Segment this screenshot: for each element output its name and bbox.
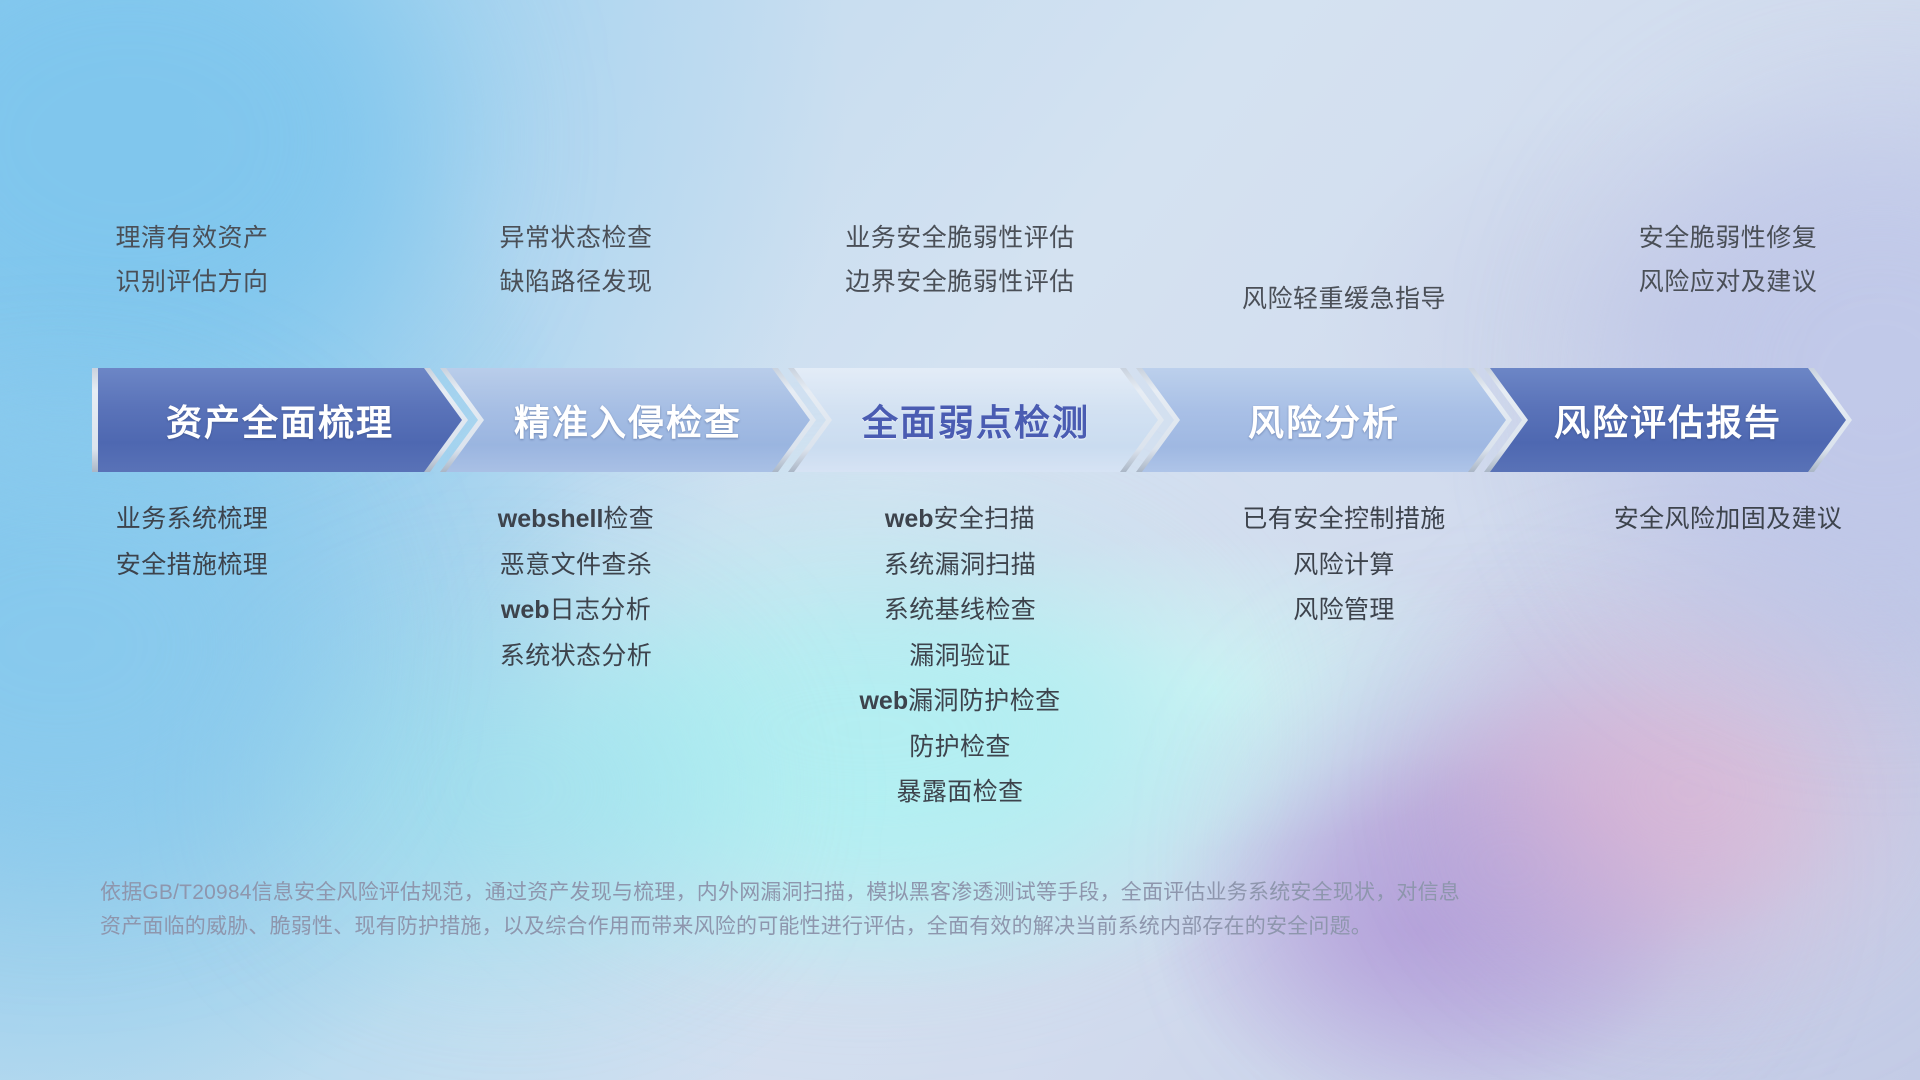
top-item: 业务安全脆弱性评估 xyxy=(845,224,1075,252)
top-column-intrusion-check: 异常状态检查 缺陷路径发现 xyxy=(384,214,768,354)
bottom-item: 安全措施梳理 xyxy=(116,552,268,580)
bottom-item-text: 系统漏洞扫描 xyxy=(884,551,1036,579)
bottom-item: web漏洞防护检查 xyxy=(859,688,1060,716)
bottom-item-latin: web xyxy=(501,596,550,624)
diagram-canvas: 理清有效资产 识别评估方向 异常状态检查 缺陷路径发现 业务安全脆弱性评估 边界… xyxy=(0,0,1920,1080)
bottom-item-text: 已有安全控制措施 xyxy=(1242,505,1445,533)
bottom-column-asset-inventory: 业务系统梳理 安全措施梳理 xyxy=(0,506,384,579)
bottom-item-text: 防护检查 xyxy=(909,733,1011,761)
bottom-detail-band: 业务系统梳理 安全措施梳理 webshell检查 恶意文件查杀 web日志分析 … xyxy=(0,506,1920,807)
footer-line: 资产面临的威胁、脆弱性、现有防护措施，以及综合作用而带来风险的可能性进行评估，全… xyxy=(100,910,1720,944)
chevron-intrusion-check[interactable]: 精准入侵检查 xyxy=(446,368,810,472)
top-item: 安全脆弱性修复 xyxy=(1639,224,1818,252)
top-item: 识别评估方向 xyxy=(115,268,268,296)
top-item: 风险应对及建议 xyxy=(1639,268,1818,296)
top-column-risk-analysis: 风险轻重缓急指导 xyxy=(1152,214,1536,354)
bottom-item-text: 暴露面检查 xyxy=(896,778,1023,806)
top-item: 异常状态检查 xyxy=(499,224,652,252)
bottom-item: web安全扫描 xyxy=(885,506,1035,534)
bottom-item-text: 系统基线检查 xyxy=(884,596,1036,624)
bottom-item-text: 安全扫描 xyxy=(934,505,1036,533)
chevron-risk-analysis[interactable]: 风险分析 xyxy=(1142,368,1506,472)
top-item: 理清有效资产 xyxy=(115,224,268,252)
bottom-item: 系统基线检查 xyxy=(884,597,1036,625)
chevron-risk-report[interactable]: 风险评估报告 xyxy=(1490,368,1846,472)
chevron-label: 资产全面梳理 xyxy=(166,394,394,446)
chevron-weakness-detection[interactable]: 全面弱点检测 xyxy=(794,368,1158,472)
bottom-column-intrusion-check: webshell检查 恶意文件查杀 web日志分析 系统状态分析 xyxy=(384,506,768,670)
footer-line: 依据GB/T20984信息安全风险评估规范，通过资产发现与梳理，内外网漏洞扫描，… xyxy=(100,876,1720,910)
bottom-item-text: 检查 xyxy=(603,505,654,533)
bottom-item-text: 业务系统梳理 xyxy=(116,505,268,533)
bottom-item: web日志分析 xyxy=(501,597,651,625)
top-column-risk-report: 安全脆弱性修复 风险应对及建议 xyxy=(1536,214,1920,354)
bottom-item-text: 日志分析 xyxy=(550,596,652,624)
bottom-column-risk-analysis: 已有安全控制措施 风险计算 风险管理 xyxy=(1152,506,1536,625)
process-chevron-band: 资产全面梳理 精准入侵检查 全面弱点检测 风险分析 风险评估报告 xyxy=(92,368,1852,472)
bottom-column-weakness-detection: web安全扫描 系统漏洞扫描 系统基线检查 漏洞验证 web漏洞防护检查 防护检… xyxy=(768,506,1152,807)
chevron-label: 风险分析 xyxy=(1248,394,1400,446)
bottom-item-text: 安全措施梳理 xyxy=(116,551,268,579)
bottom-item: 系统状态分析 xyxy=(500,643,652,671)
top-column-weakness-detection: 业务安全脆弱性评估 边界安全脆弱性评估 xyxy=(768,214,1152,354)
bottom-item-text: 恶意文件查杀 xyxy=(500,551,652,579)
top-descriptor-band: 理清有效资产 识别评估方向 异常状态检查 缺陷路径发现 业务安全脆弱性评估 边界… xyxy=(0,214,1920,354)
chevron-label: 风险评估报告 xyxy=(1554,394,1782,446)
bottom-item-text: 漏洞防护检查 xyxy=(908,687,1060,715)
bottom-item: 风险计算 xyxy=(1293,552,1395,580)
bottom-item: 暴露面检查 xyxy=(896,779,1023,807)
bottom-item-latin: web xyxy=(885,505,934,533)
bottom-item-text: 漏洞验证 xyxy=(909,642,1011,670)
bottom-item: 安全风险加固及建议 xyxy=(1614,506,1843,534)
bottom-item: webshell检查 xyxy=(498,506,654,534)
bottom-item-latin: webshell xyxy=(498,505,604,533)
chevron-asset-inventory[interactable]: 资产全面梳理 xyxy=(98,368,462,472)
top-item: 边界安全脆弱性评估 xyxy=(845,268,1075,296)
bottom-item-text: 风险计算 xyxy=(1293,551,1395,579)
top-column-asset-inventory: 理清有效资产 识别评估方向 xyxy=(0,214,384,354)
footer-note: 依据GB/T20984信息安全风险评估规范，通过资产发现与梳理，内外网漏洞扫描，… xyxy=(100,876,1720,944)
bottom-item: 业务系统梳理 xyxy=(116,506,268,534)
bottom-item: 风险管理 xyxy=(1293,597,1395,625)
bottom-column-risk-report: 安全风险加固及建议 xyxy=(1536,506,1920,534)
bottom-item: 系统漏洞扫描 xyxy=(884,552,1036,580)
bottom-item-latin: web xyxy=(859,687,908,715)
bottom-item-text: 安全风险加固及建议 xyxy=(1614,505,1843,533)
top-item: 缺陷路径发现 xyxy=(499,268,652,296)
bottom-item-text: 风险管理 xyxy=(1293,596,1395,624)
chevron-label: 全面弱点检测 xyxy=(862,394,1090,446)
bottom-item-text: 系统状态分析 xyxy=(500,642,652,670)
bottom-item: 防护检查 xyxy=(909,734,1011,762)
chevron-label: 精准入侵检查 xyxy=(514,394,742,446)
bottom-item: 恶意文件查杀 xyxy=(500,552,652,580)
top-item: 风险轻重缓急指导 xyxy=(1242,285,1446,313)
bottom-item: 漏洞验证 xyxy=(909,643,1011,671)
bottom-item: 已有安全控制措施 xyxy=(1242,506,1445,534)
